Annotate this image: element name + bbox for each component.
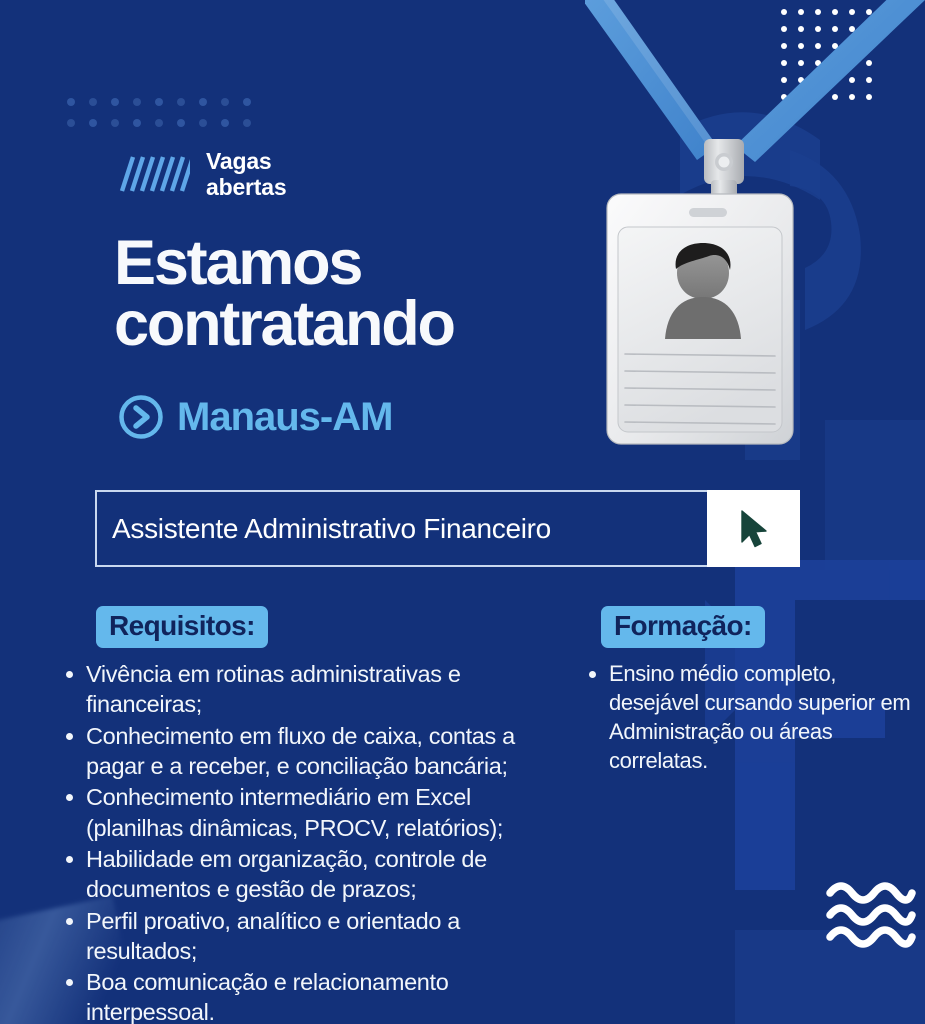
section-title-requisitos: Requisitos: xyxy=(96,606,268,648)
id-badge-lanyard-illustration xyxy=(585,0,925,464)
formacao-column: Formação: Ensino médio completo, desejáv… xyxy=(583,606,913,776)
location-row: Manaus-AM xyxy=(118,394,392,440)
mouse-cursor-icon xyxy=(737,509,771,549)
diagonal-hatch-icon xyxy=(118,153,190,195)
list-item: Habilidade em organização, controle de d… xyxy=(60,844,570,905)
ornament-dot xyxy=(111,98,119,106)
requisitos-list: Vivência em rotinas administrativas e fi… xyxy=(60,659,570,1024)
list-item: Perfil proativo, analítico e orientado a… xyxy=(60,906,570,967)
ornament-dot xyxy=(243,119,251,127)
wavy-lines-icon xyxy=(825,876,917,948)
section-title-formacao: Formação: xyxy=(601,606,765,648)
ornament-dot xyxy=(67,119,75,127)
list-item: Ensino médio completo, desejável cursand… xyxy=(583,659,913,775)
page-title: Estamos contratando xyxy=(114,233,454,355)
formacao-list: Ensino médio completo, desejável cursand… xyxy=(583,659,913,775)
dotted-ornament xyxy=(67,98,265,140)
search-input[interactable]: Assistente Administrativo Financeiro xyxy=(97,492,707,565)
list-item: Conhecimento intermediário em Excel (pla… xyxy=(60,782,570,843)
ornament-dot xyxy=(155,98,163,106)
ornament-dot xyxy=(67,98,75,106)
search-bar[interactable]: Assistente Administrativo Financeiro xyxy=(95,490,800,567)
list-item: Conhecimento em fluxo de caixa, contas a… xyxy=(60,721,570,782)
ornament-dot xyxy=(177,119,185,127)
ornament-dot xyxy=(199,98,207,106)
arrow-circle-right-icon xyxy=(118,394,164,440)
location-label: Manaus-AM xyxy=(177,397,392,437)
ornament-dot xyxy=(177,98,185,106)
ornament-dot xyxy=(155,119,163,127)
job-posting-poster: Vagas abertas Estamos contratando Manaus… xyxy=(0,0,925,1024)
ornament-dot xyxy=(89,119,97,127)
ornament-dot xyxy=(221,98,229,106)
ornament-dot xyxy=(133,98,141,106)
requisitos-column: Requisitos: Vivência em rotinas administ… xyxy=(60,606,570,1024)
eyebrow-line-2: abertas xyxy=(206,174,286,200)
ornament-dot xyxy=(133,119,141,127)
ornament-dot xyxy=(221,119,229,127)
ornament-dot xyxy=(89,98,97,106)
eyebrow-line-1: Vagas xyxy=(206,148,286,174)
list-item: Vivência em rotinas administrativas e fi… xyxy=(60,659,570,720)
ornament-dot xyxy=(111,119,119,127)
eyebrow-text: Vagas abertas xyxy=(206,148,286,200)
search-button[interactable] xyxy=(707,490,800,567)
ornament-dot xyxy=(199,119,207,127)
list-item: Boa comunicação e relacionamento interpe… xyxy=(60,967,570,1024)
ornament-dot xyxy=(243,98,251,106)
eyebrow: Vagas abertas xyxy=(118,148,286,200)
